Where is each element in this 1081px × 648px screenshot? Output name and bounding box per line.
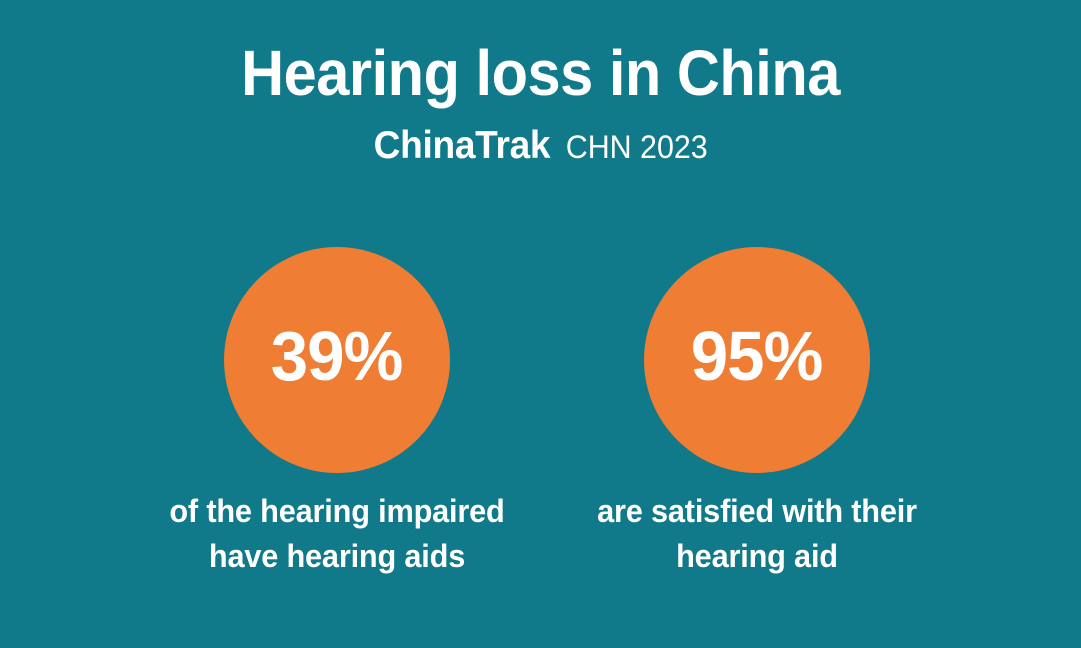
stat-caption: of the hearing impaired have hearing aid… [135,489,538,579]
stat-caption: are satisfied with their hearing aid [555,489,958,579]
stat-value: 39% [271,321,403,391]
subtitle-brand: ChinaTrak [374,123,551,169]
stat-value: 95% [691,321,823,391]
stat-bubble: 39% [224,247,450,473]
subtitle-meta: CHN 2023 [566,124,708,170]
stat-bubble: 95% [644,247,870,473]
stat-hearing-aid-satisfaction: 95% are satisfied with their hearing aid [547,247,967,579]
subtitle: ChinaTrakCHN 2023 [0,123,1081,177]
stat-caption-line2: have hearing aids [135,534,538,579]
stats-group: 39% of the hearing impaired have hearing… [0,247,1081,587]
infographic-canvas: Hearing loss in China ChinaTrakCHN 2023 … [0,0,1081,648]
stat-caption-line1: of the hearing impaired [135,489,538,534]
stat-caption-line2: hearing aid [555,534,958,579]
stat-hearing-aid-ownership: 39% of the hearing impaired have hearing… [127,247,547,579]
stat-caption-line1: are satisfied with their [555,489,958,534]
page-title: Hearing loss in China [38,36,1043,110]
